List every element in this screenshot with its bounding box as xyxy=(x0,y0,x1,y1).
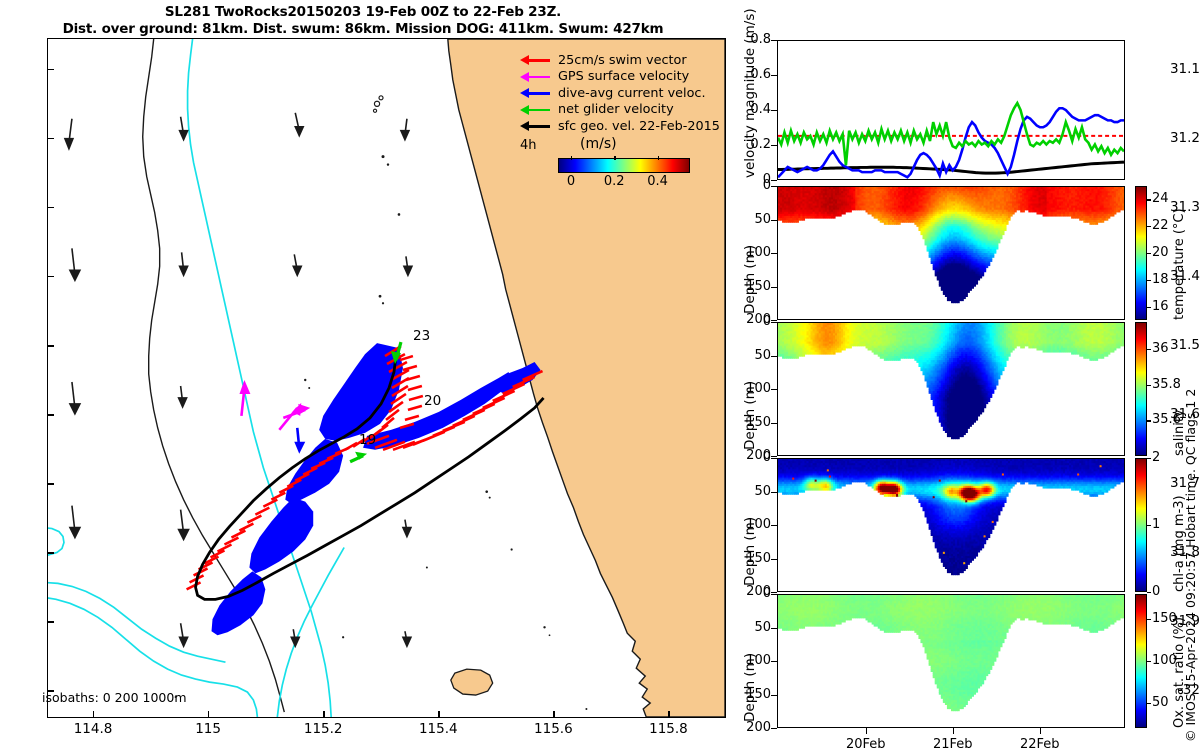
y-tick-label: 200 xyxy=(725,720,771,735)
cb-tick xyxy=(1147,458,1151,459)
map-ytick xyxy=(47,69,54,70)
y-tick-label: 0 xyxy=(725,586,771,601)
y-tick xyxy=(771,220,777,221)
map-ytick-label: 31.1 xyxy=(1156,61,1200,77)
velocity-cb-tick-label: 0 xyxy=(551,174,591,189)
map-xtick xyxy=(93,711,94,718)
legend-label: GPS surface velocity xyxy=(558,69,689,84)
cb-tick xyxy=(1147,525,1151,526)
y-tick xyxy=(771,594,777,595)
velocity-cb-tick-label: 0.4 xyxy=(638,174,678,189)
cb-tick-label: 50 xyxy=(1152,695,1169,710)
velocity-cb-tick xyxy=(658,156,659,160)
y-tick-label: 0 xyxy=(725,178,771,193)
time-tick xyxy=(953,728,954,734)
legend-item: dive-avg current veloc. xyxy=(520,85,720,102)
velocity-plot-graphic xyxy=(778,41,1124,179)
arrow-left-icon xyxy=(520,71,552,83)
y-tick xyxy=(771,728,777,729)
cb-tick xyxy=(1147,661,1151,662)
map-xtick-label: 115.4 xyxy=(403,721,473,737)
oxygen-section-panel[interactable] xyxy=(777,594,1125,728)
section-graphic xyxy=(778,187,1124,319)
y-tick xyxy=(771,458,777,459)
map-ytick xyxy=(47,414,54,415)
map-ytick xyxy=(47,276,54,277)
y-tick xyxy=(771,287,777,288)
arrow-left-icon xyxy=(520,87,552,99)
y-tick xyxy=(771,628,777,629)
map-legend: 25cm/s swim vector GPS surface velocity … xyxy=(520,52,720,135)
arrow-left-icon xyxy=(520,54,552,66)
map-ytick xyxy=(47,552,54,553)
velocity-cb-tick xyxy=(571,156,572,160)
map-xtick xyxy=(553,711,554,718)
map-ytick xyxy=(47,483,54,484)
y-tick-label: 0 xyxy=(725,314,771,329)
temperature-section-panel[interactable] xyxy=(777,186,1125,320)
figure-title: SL281 TwoRocks20150203 19-Feb 00Z to 22-… xyxy=(0,4,726,38)
y-tick xyxy=(771,389,777,390)
salinity-section-panel[interactable] xyxy=(777,322,1125,456)
cb-tick xyxy=(1147,703,1151,704)
legend-label: sfc geo. vel. 22-Feb-2015 xyxy=(558,119,720,134)
legend-item: GPS surface velocity xyxy=(520,69,720,86)
isobath-legend-label: isobaths: 0 200 1000m xyxy=(42,690,187,705)
cb-tick-label: 1 xyxy=(1152,517,1160,532)
cb-tick-label: 36 xyxy=(1152,341,1169,356)
y-tick xyxy=(771,322,777,323)
title-line-1: SL281 TwoRocks20150203 19-Feb 00Z to 22-… xyxy=(0,4,726,21)
cb-tick xyxy=(1147,420,1151,421)
oxygen-depth-axis-label: Depth (m) xyxy=(742,653,758,722)
track-day-label: 20 xyxy=(424,393,441,409)
title-line-2: Dist. over ground: 81km. Dist. swum: 86k… xyxy=(0,21,726,38)
salinity-depth-axis-label: Depth (m) xyxy=(742,381,758,450)
temperature-depth-axis-label: Depth (m) xyxy=(742,245,758,314)
cb-tick xyxy=(1147,226,1151,227)
velocity-unit-label: (m/s) xyxy=(580,136,617,152)
y-tick xyxy=(771,525,777,526)
map-xtick xyxy=(323,711,324,718)
cb-tick-label: 20 xyxy=(1152,245,1169,260)
salinity-colorbar xyxy=(1135,322,1147,456)
temperature-colorbar-label: temperature (°C) xyxy=(1172,208,1187,320)
y-tick xyxy=(771,492,777,493)
map-xtick-label: 115.6 xyxy=(518,721,588,737)
velocity-cb-tick-label: 0.2 xyxy=(594,174,634,189)
cb-tick xyxy=(1147,253,1151,254)
map-ytick-label: 31.2 xyxy=(1156,130,1200,146)
track-day-label: 23 xyxy=(413,328,430,344)
map-xtick-label: 115 xyxy=(173,721,243,737)
time-interval-label: 4h xyxy=(520,138,537,153)
map-xtick xyxy=(668,711,669,718)
map-xtick xyxy=(438,711,439,718)
cb-tick xyxy=(1147,619,1151,620)
legend-item: sfc geo. vel. 22-Feb-2015 xyxy=(520,118,720,135)
chl-a-colorbar xyxy=(1135,458,1147,592)
time-tick xyxy=(1040,728,1041,734)
y-tick xyxy=(771,423,777,424)
map-ytick xyxy=(47,138,54,139)
velocity-axis-label: velocity magnitude (m/s) xyxy=(742,8,758,178)
legend-label: dive-avg current veloc. xyxy=(558,86,706,101)
cb-tick-label: 16 xyxy=(1152,299,1169,314)
track-day-label: 19 xyxy=(359,432,376,448)
legend-label: net glider velocity xyxy=(558,102,674,117)
cb-tick xyxy=(1147,349,1151,350)
y-tick xyxy=(771,180,777,181)
y-tick xyxy=(771,145,777,146)
arrow-left-icon xyxy=(520,120,552,132)
velocity-colorbar xyxy=(558,158,690,173)
y-tick xyxy=(771,186,777,187)
cb-tick-label: 24 xyxy=(1152,191,1169,206)
chl-depth-axis-label: Depth (m) xyxy=(742,517,758,586)
cb-tick-label: 0 xyxy=(1152,584,1160,599)
cb-tick-label: 18 xyxy=(1152,272,1169,287)
chlorophyll-section-panel[interactable] xyxy=(777,458,1125,592)
cb-tick-label: 35.8 xyxy=(1152,377,1181,392)
y-tick-label: 50 xyxy=(725,212,771,227)
y-tick-label: 50 xyxy=(725,348,771,363)
cb-tick xyxy=(1147,199,1151,200)
y-tick-label: 50 xyxy=(725,620,771,635)
y-tick xyxy=(771,356,777,357)
y-tick xyxy=(771,110,777,111)
velocity-cb-tick xyxy=(614,156,615,160)
y-tick-label: 0 xyxy=(725,450,771,465)
y-tick xyxy=(771,661,777,662)
oxygen-colorbar xyxy=(1135,594,1147,728)
y-tick xyxy=(771,695,777,696)
map-panel[interactable] xyxy=(47,38,726,718)
map-ytick xyxy=(47,621,54,622)
temperature-colorbar xyxy=(1135,186,1147,320)
arrow-left-icon xyxy=(520,104,552,116)
map-xtick-label: 114.8 xyxy=(58,721,128,737)
legend-label: 25cm/s swim vector xyxy=(558,53,687,68)
map-ytick xyxy=(47,345,54,346)
credit-text: © IMOS 15-Apr-2024 09:20:57 Hobart time.… xyxy=(1183,389,1198,742)
cb-tick xyxy=(1147,592,1151,593)
y-tick-label: 50 xyxy=(725,484,771,499)
section-graphic xyxy=(778,595,1124,727)
map-xtick xyxy=(208,711,209,718)
time-tick xyxy=(866,728,867,734)
y-tick xyxy=(771,253,777,254)
cb-tick xyxy=(1147,307,1151,308)
y-tick xyxy=(771,559,777,560)
map-ytick xyxy=(47,207,54,208)
legend-item: net glider velocity xyxy=(520,102,720,119)
map-graphic xyxy=(48,39,725,717)
section-graphic xyxy=(778,459,1124,591)
legend-item: 25cm/s swim vector xyxy=(520,52,720,69)
cb-tick xyxy=(1147,385,1151,386)
map-xtick-label: 115.8 xyxy=(633,721,703,737)
cb-tick-label: 22 xyxy=(1152,218,1169,233)
y-tick xyxy=(771,75,777,76)
velocity-timeseries-panel[interactable] xyxy=(777,40,1125,180)
map-xtick-label: 115.2 xyxy=(288,721,358,737)
section-graphic xyxy=(778,323,1124,455)
y-tick xyxy=(771,40,777,41)
cb-tick xyxy=(1147,280,1151,281)
cb-tick-label: 2 xyxy=(1152,450,1160,465)
